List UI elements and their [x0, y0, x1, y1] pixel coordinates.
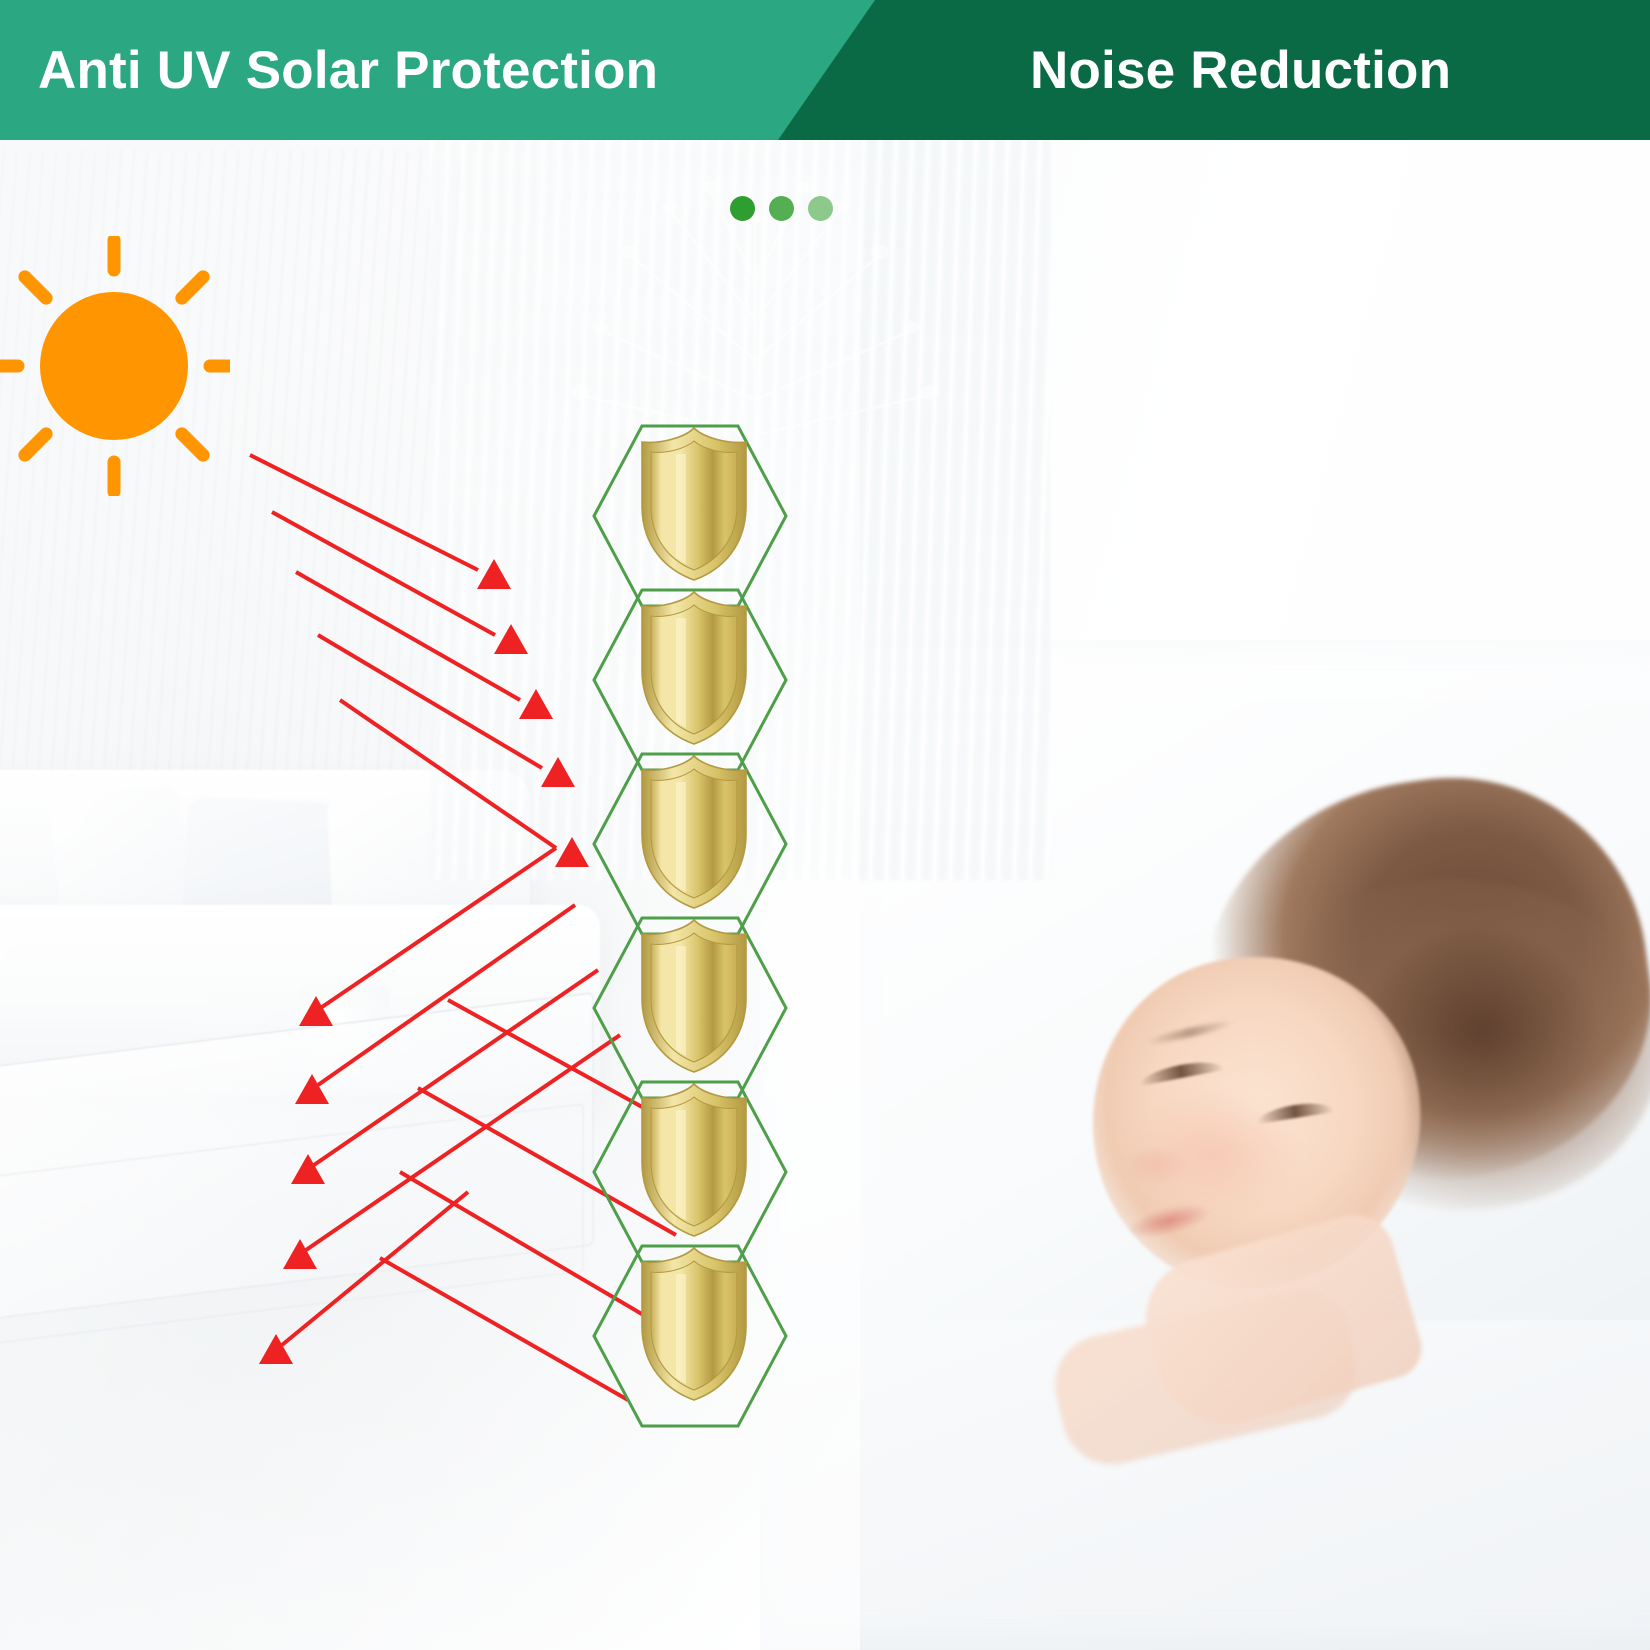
uv-ray-arrowhead — [494, 624, 528, 654]
uv-ray-arrowhead — [477, 559, 511, 589]
uv-ray-reflected-line — [322, 848, 556, 1007]
uv-ray-incoming-line — [296, 572, 520, 700]
shield-icon — [636, 752, 752, 912]
infographic-canvas: Anti UV Solar Protection Noise Reduction — [0, 0, 1650, 1650]
uv-ray-incoming-line — [318, 635, 542, 768]
uv-ray-arrowhead — [291, 1154, 325, 1184]
shield-icon — [636, 1244, 752, 1404]
uv-ray-reflected-line — [306, 1035, 620, 1250]
uv-ray-arrows — [0, 0, 1650, 1650]
shield-hexagon-column — [592, 418, 808, 1398]
shield-icon — [636, 916, 752, 1076]
uv-ray-incoming-line — [272, 512, 495, 635]
uv-ray-incoming-line — [340, 700, 556, 848]
uv-ray-arrowhead — [299, 996, 333, 1026]
uv-ray-reflected-line — [318, 905, 575, 1085]
uv-ray-arrowhead — [555, 837, 589, 867]
uv-ray-reflected-line — [314, 970, 598, 1165]
uv-ray-arrowhead — [519, 689, 553, 719]
shield-icon — [636, 1080, 752, 1240]
uv-ray-cross-line — [380, 1258, 628, 1400]
uv-ray-arrowhead — [541, 757, 575, 787]
uv-ray-arrowhead — [283, 1239, 317, 1269]
hexagon-shield-cell — [592, 1238, 788, 1434]
shield-icon — [636, 588, 752, 748]
shield-icon — [636, 424, 752, 584]
uv-ray-incoming-line — [250, 455, 478, 570]
